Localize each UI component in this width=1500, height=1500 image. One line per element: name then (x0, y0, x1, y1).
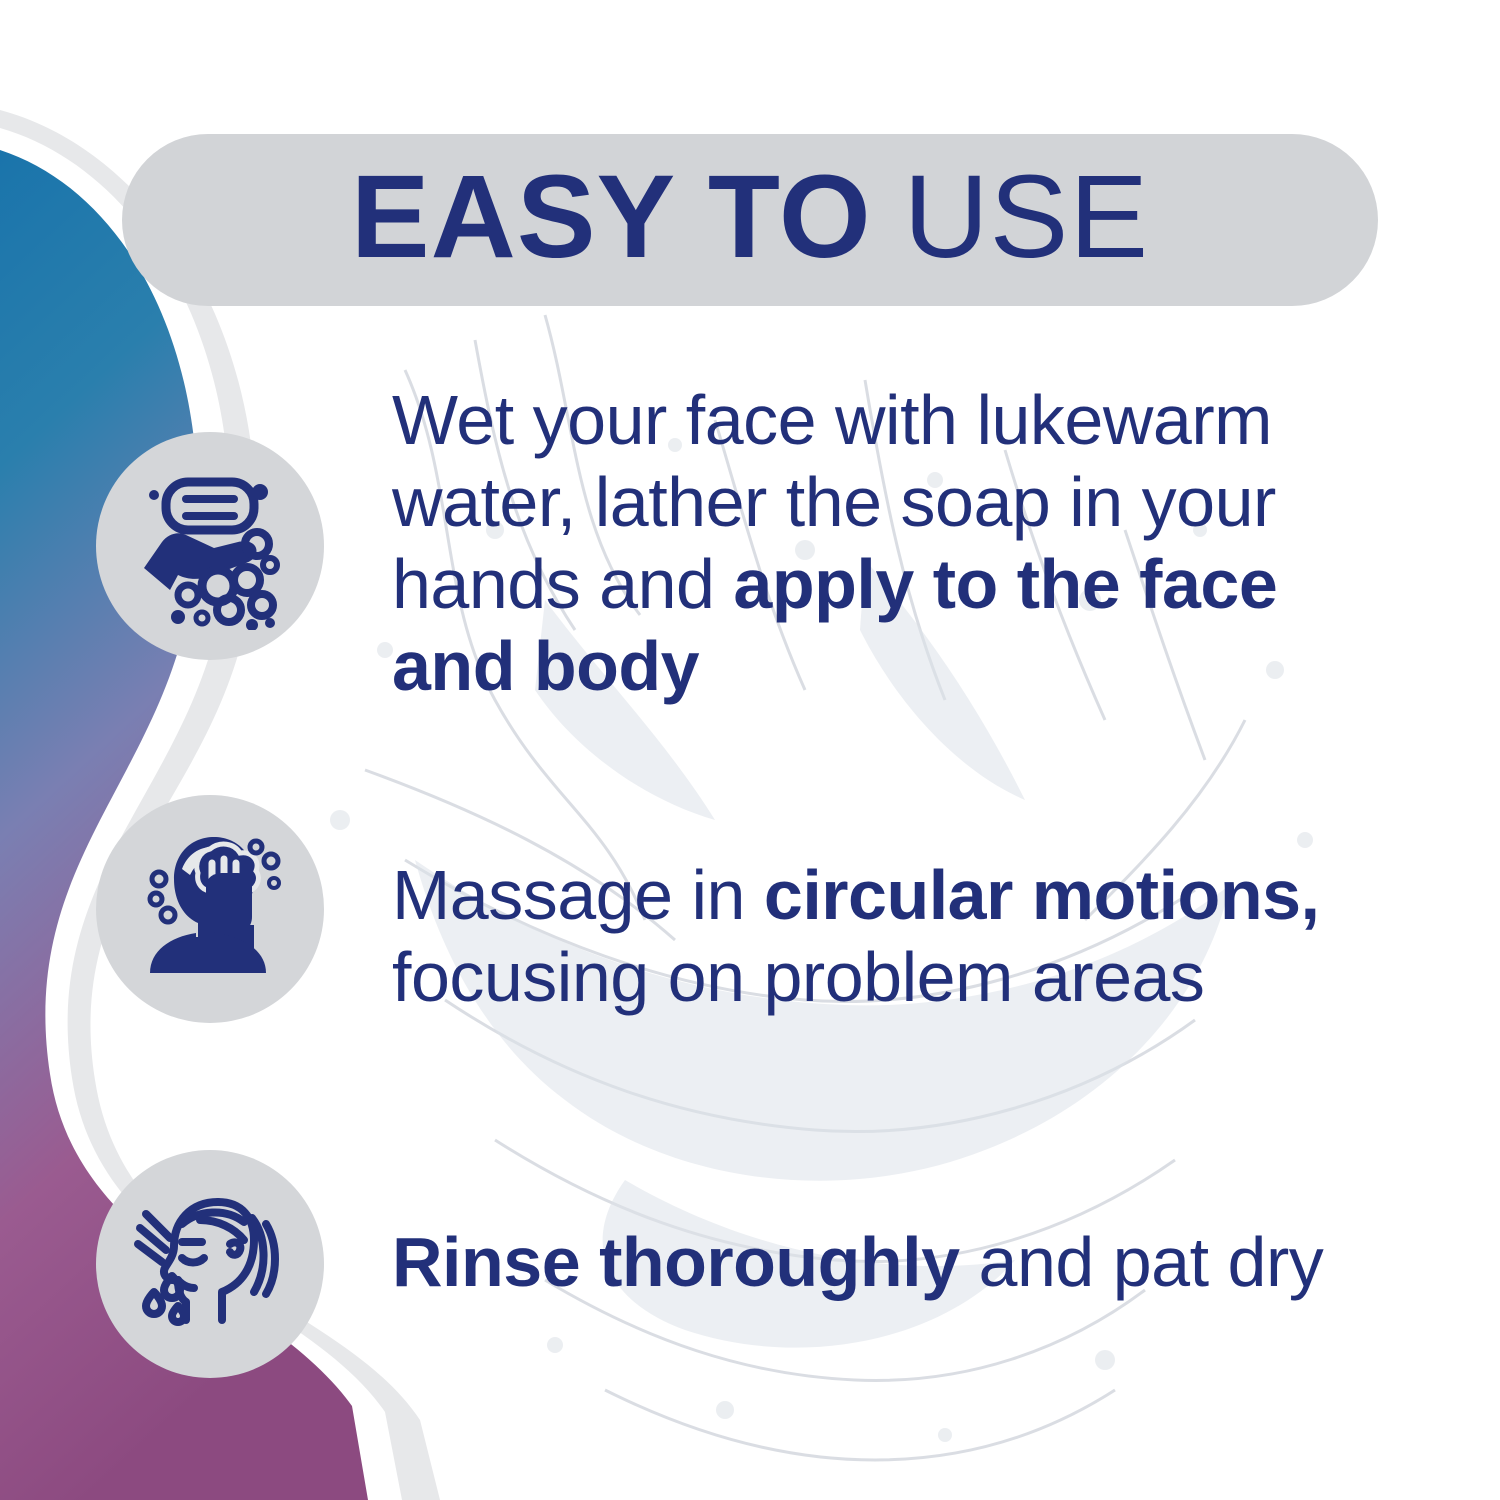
face-rinsing-water-droplets-icon (126, 1180, 294, 1348)
step-2-trail: focusing on problem areas (392, 938, 1204, 1016)
step-3-trail: and pat dry (960, 1223, 1324, 1301)
step-2-emphasis: circular motions, (764, 856, 1320, 934)
step-1-icon-badge (96, 432, 324, 660)
steps-list: Wet your face with lukewarm water, lathe… (0, 0, 1500, 1500)
step-item: Wet your face with lukewarm water, lathe… (96, 372, 1426, 708)
step-3-emphasis: Rinse thoroughly (392, 1223, 960, 1301)
infographic-canvas: EASY TO USE (0, 0, 1500, 1500)
step-item: Massage in circular motions, focusing on… (96, 795, 1426, 1023)
step-item: Rinse thoroughly and pat dry (96, 1150, 1446, 1378)
step-1-text: Wet your face with lukewarm water, lathe… (392, 380, 1402, 708)
step-3-text: Rinse thoroughly and pat dry (392, 1222, 1446, 1304)
step-2-text: Massage in circular motions, focusing on… (392, 855, 1426, 1019)
step-3-icon-badge (96, 1150, 324, 1378)
hand-with-soap-bar-bubbles-icon (126, 462, 294, 630)
person-massaging-face-lather-icon (126, 825, 294, 993)
step-2-icon-badge (96, 795, 324, 1023)
step-2-lead: Massage in (392, 856, 764, 934)
